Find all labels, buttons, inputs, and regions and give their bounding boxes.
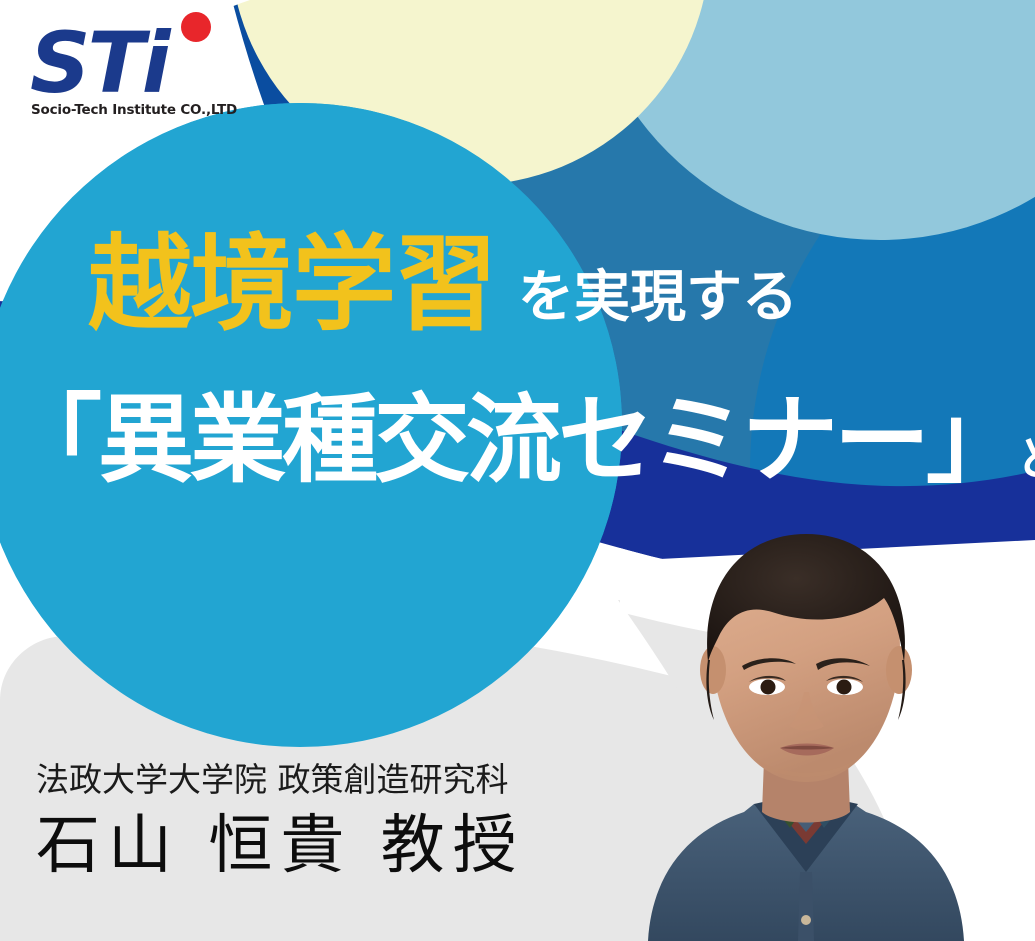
seminar-banner: STi Socio-Tech Institute CO.,LTD 越境学習 を実… xyxy=(0,0,1035,941)
speaker-portrait xyxy=(604,520,1008,941)
logo-tagline: Socio-Tech Institute CO.,LTD xyxy=(31,102,237,118)
speaker-name: 石山 恒貴 教授 xyxy=(36,810,525,884)
speaker-affiliation: 法政大学大学院 政策創造研究科 xyxy=(36,762,525,798)
speaker-block: 法政大学大学院 政策創造研究科 石山 恒貴 教授 xyxy=(36,762,525,884)
sti-logo: STi Socio-Tech Institute CO.,LTD xyxy=(28,10,243,120)
logo-wordmark: STi xyxy=(30,14,172,112)
logo-dot-icon xyxy=(181,12,211,42)
